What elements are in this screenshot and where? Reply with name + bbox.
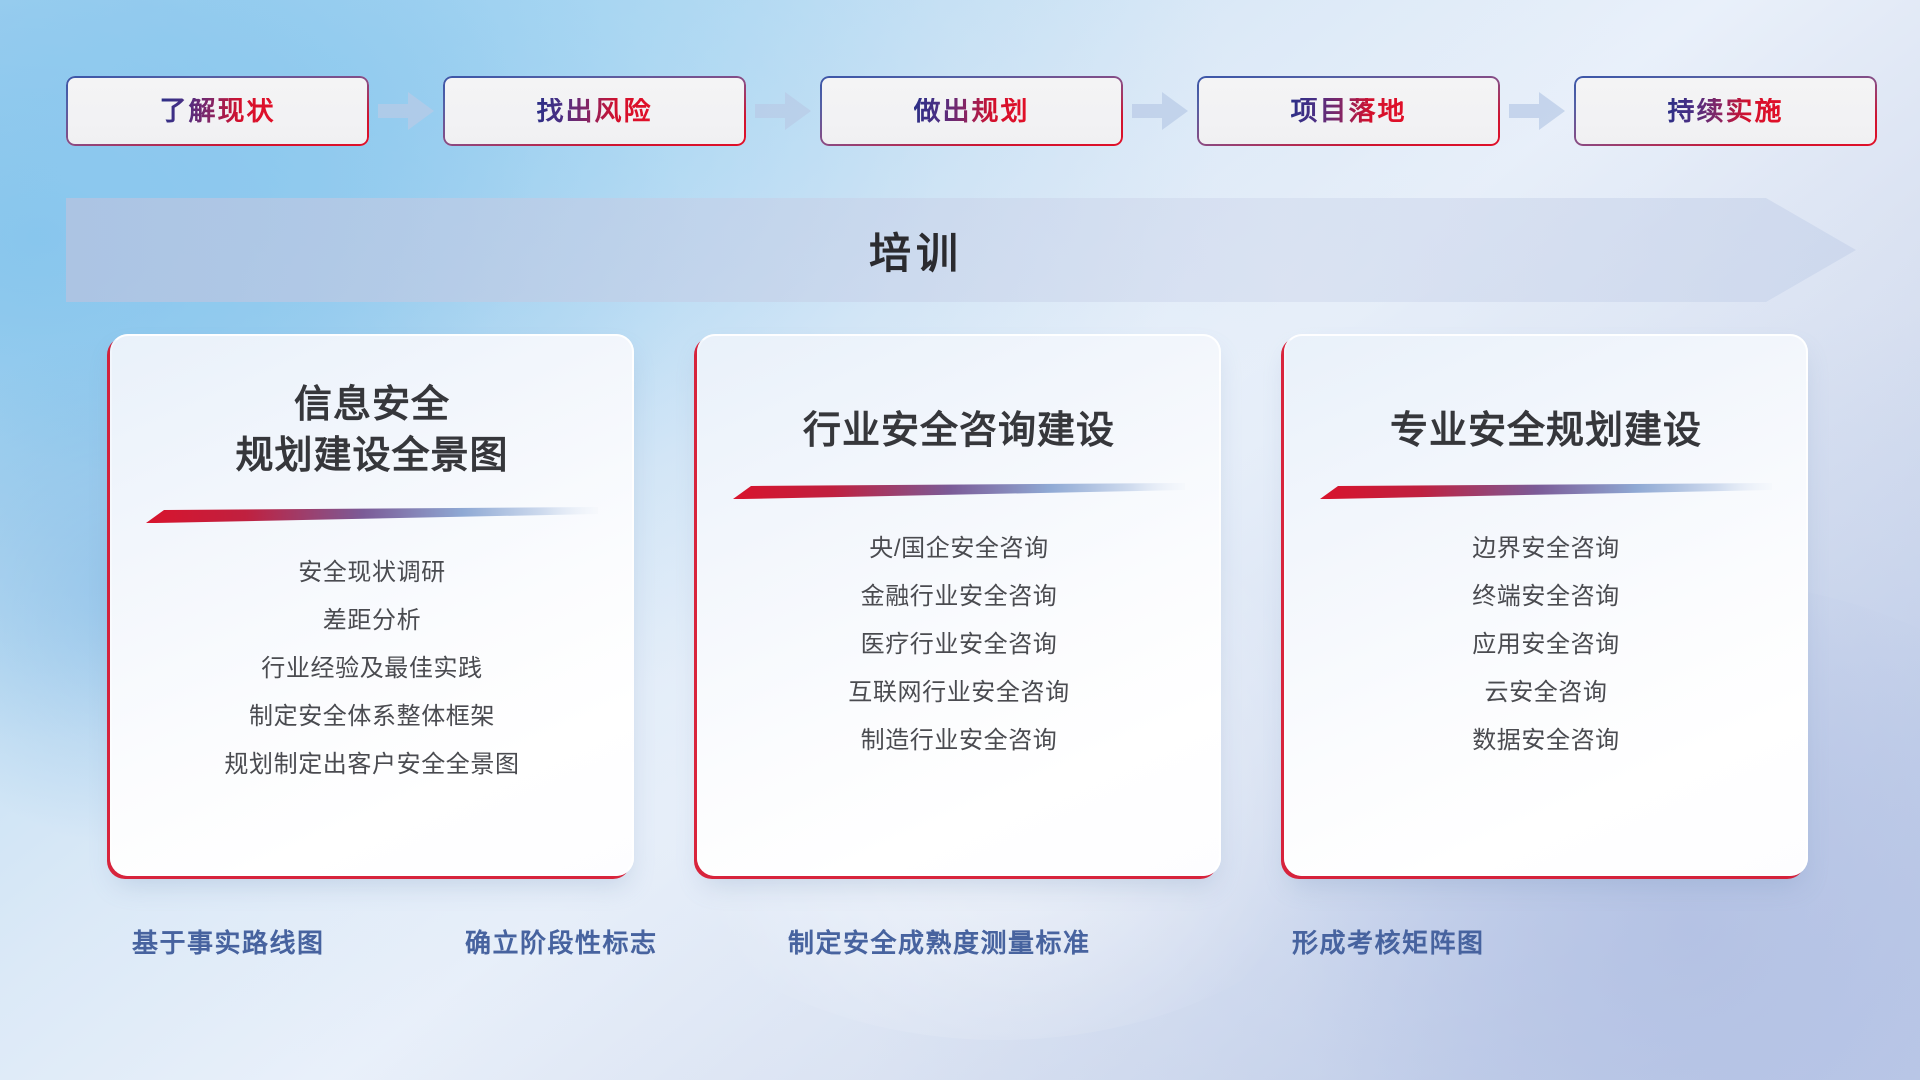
- process-step-0[interactable]: 了解现状: [66, 76, 369, 146]
- card-item-list: 边界安全咨询 终端安全咨询 应用安全咨询 云安全咨询 数据安全咨询: [1310, 525, 1782, 765]
- list-item: 数据安全咨询: [1310, 717, 1782, 765]
- caption-text: 确立阶段性标志: [465, 920, 658, 966]
- card-item-list: 安全现状调研 差距分析 行业经验及最佳实践 制定安全体系整体框架 规划制定出客户…: [136, 549, 608, 789]
- list-item: 互联网行业安全咨询: [723, 669, 1195, 717]
- card-divider-icon: [733, 483, 1185, 499]
- slide-canvas: 了解现状 找出风险 做出规划 项目落地 持续实施: [0, 0, 1920, 1080]
- card-title: 行业安全咨询建设: [803, 406, 1115, 457]
- caption-text: 基于事实路线图: [132, 920, 325, 966]
- process-step-label: 持续实施: [1668, 98, 1784, 125]
- caption-row: 基于事实路线图 确立阶段性标志 制定安全成熟度测量标准 形成考核矩阵图: [0, 920, 1920, 966]
- list-item: 边界安全咨询: [1310, 525, 1782, 573]
- card-professional-security-planning[interactable]: 专业安全规划建设 边界安全咨: [1284, 334, 1808, 876]
- process-step-1[interactable]: 找出风险: [443, 76, 746, 146]
- process-step-label: 做出规划: [914, 98, 1030, 125]
- right-arrow-icon: [378, 92, 434, 130]
- list-item: 应用安全咨询: [1310, 621, 1782, 669]
- card-list: 信息安全 规划建设全景图 安: [110, 334, 1810, 890]
- process-step-list: 了解现状 找出风险 做出规划 项目落地 持续实施: [66, 76, 1856, 146]
- right-arrow-icon: [1132, 92, 1188, 130]
- card-title: 信息安全 规划建设全景图: [235, 380, 508, 481]
- card-divider-icon: [1320, 483, 1772, 499]
- list-item: 差距分析: [136, 597, 608, 645]
- list-item: 制造行业安全咨询: [723, 717, 1195, 765]
- list-item: 终端安全咨询: [1310, 573, 1782, 621]
- card-divider-icon: [146, 507, 598, 523]
- list-item: 安全现状调研: [136, 549, 608, 597]
- process-step-label: 找出风险: [537, 98, 653, 125]
- right-arrow-icon: [1509, 92, 1565, 130]
- process-step-2[interactable]: 做出规划: [820, 76, 1123, 146]
- training-banner-title: 培训: [66, 198, 1766, 302]
- process-step-3[interactable]: 项目落地: [1197, 76, 1500, 146]
- process-step-label: 项目落地: [1291, 98, 1407, 125]
- card-industry-security-consulting[interactable]: 行业安全咨询建设 央/国企安: [697, 334, 1221, 876]
- list-item: 规划制定出客户安全全景图: [136, 741, 608, 789]
- list-item: 金融行业安全咨询: [723, 573, 1195, 621]
- process-step-4[interactable]: 持续实施: [1574, 76, 1877, 146]
- caption-text: 形成考核矩阵图: [1292, 920, 1485, 966]
- card-title: 专业安全规划建设: [1390, 406, 1702, 457]
- list-item: 制定安全体系整体框架: [136, 693, 608, 741]
- card-info-security-blueprint[interactable]: 信息安全 规划建设全景图 安: [110, 334, 634, 876]
- list-item: 央/国企安全咨询: [723, 525, 1195, 573]
- list-item: 医疗行业安全咨询: [723, 621, 1195, 669]
- list-item: 云安全咨询: [1310, 669, 1782, 717]
- caption-text: 制定安全成熟度测量标准: [788, 920, 1091, 966]
- process-step-label: 了解现状: [160, 98, 276, 125]
- right-arrow-icon: [755, 92, 811, 130]
- list-item: 行业经验及最佳实践: [136, 645, 608, 693]
- training-banner: 培训: [66, 198, 1856, 302]
- card-item-list: 央/国企安全咨询 金融行业安全咨询 医疗行业安全咨询 互联网行业安全咨询 制造行…: [723, 525, 1195, 765]
